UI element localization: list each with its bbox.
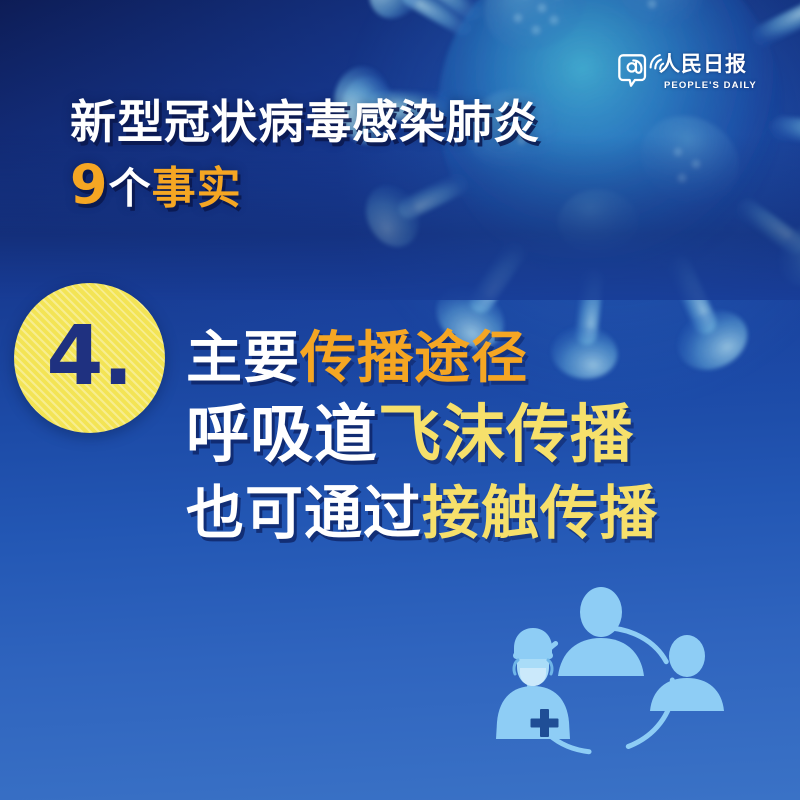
wifi-arcs-icon bbox=[646, 50, 670, 79]
fact-line-3-seg-2: 接触传播 bbox=[422, 479, 658, 547]
medical-worker-with-mask-icon bbox=[496, 628, 570, 739]
fact-line-3: 也可通过接触传播 bbox=[186, 476, 786, 550]
fact-line-2: 呼吸道飞沫传播 bbox=[186, 396, 786, 474]
fact-line-1: 主要传播途径 bbox=[186, 326, 786, 392]
poster-canvas: 人民日报 PEOPLE'S DAILY 新型冠状病毒感染肺炎 9个事实 4. 主… bbox=[0, 0, 800, 800]
transmission-illustration bbox=[470, 580, 750, 780]
fact-line-3-seg-1: 也可通过 bbox=[186, 479, 422, 547]
fact-line-2-seg-2: 飞沫传播 bbox=[378, 398, 634, 471]
person-icon bbox=[650, 635, 724, 711]
headline-sub: 9个事实 bbox=[70, 156, 710, 227]
logo-name-en: PEOPLE'S DAILY bbox=[664, 80, 757, 91]
fact-number-badge: 4. bbox=[14, 283, 165, 433]
fact-number: 4. bbox=[46, 316, 132, 398]
headline-suffix: 事实 bbox=[152, 163, 242, 214]
fact-text-block: 主要传播途径 呼吸道飞沫传播 也可通过接触传播 bbox=[186, 326, 786, 550]
headline-main: 新型冠状病毒感染肺炎 bbox=[70, 96, 710, 148]
headline-block: 新型冠状病毒感染肺炎 9个事实 bbox=[70, 96, 710, 227]
fact-line-2-seg-1: 呼吸道 bbox=[186, 398, 378, 471]
logo-name-cn: 人民日报 bbox=[659, 52, 747, 76]
fact-line-1-seg-1: 主要 bbox=[186, 326, 300, 391]
fact-line-1-seg-2: 传播途径 bbox=[300, 326, 528, 391]
headline-unit: 个 bbox=[109, 164, 152, 213]
headline-number: 9 bbox=[70, 153, 109, 216]
